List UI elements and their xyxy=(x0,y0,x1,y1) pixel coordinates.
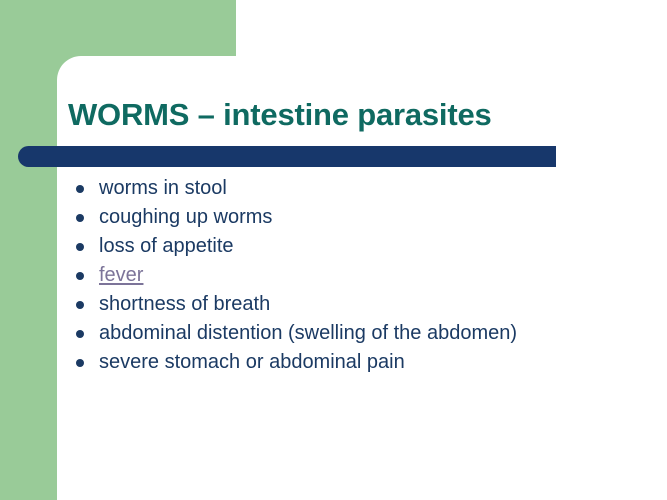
list-item-label: shortness of breath xyxy=(99,290,270,319)
presentation-slide: WORMS – intestine parasites worms in sto… xyxy=(0,0,667,500)
green-left-sidebar-decoration xyxy=(0,0,57,500)
list-item-link-label[interactable]: fever xyxy=(99,261,143,290)
list-item-label: worms in stool xyxy=(99,174,227,203)
list-item-fever-link[interactable]: fever xyxy=(68,261,648,290)
list-item: shortness of breath xyxy=(68,290,648,319)
list-item-label: coughing up worms xyxy=(99,203,272,232)
list-item-label: severe stomach or abdominal pain xyxy=(99,348,405,377)
green-top-banner-decoration xyxy=(0,0,236,56)
bullet-dot-icon xyxy=(76,185,84,193)
list-item: loss of appetite xyxy=(68,232,648,261)
list-item: severe stomach or abdominal pain xyxy=(68,348,648,377)
title-divider-bar xyxy=(18,146,556,167)
list-item-label: loss of appetite xyxy=(99,232,234,261)
bullet-dot-icon xyxy=(76,214,84,222)
bullet-dot-icon xyxy=(76,272,84,280)
list-item-label: abdominal distention (swelling of the ab… xyxy=(99,319,517,348)
list-item: abdominal distention (swelling of the ab… xyxy=(68,319,648,348)
bullet-dot-icon xyxy=(76,243,84,251)
bullet-dot-icon xyxy=(76,359,84,367)
symptom-bullet-list: worms in stool coughing up worms loss of… xyxy=(68,174,648,377)
slide-title: WORMS – intestine parasites xyxy=(68,96,628,134)
list-item: coughing up worms xyxy=(68,203,648,232)
bullet-dot-icon xyxy=(76,301,84,309)
bullet-dot-icon xyxy=(76,330,84,338)
list-item: worms in stool xyxy=(68,174,648,203)
